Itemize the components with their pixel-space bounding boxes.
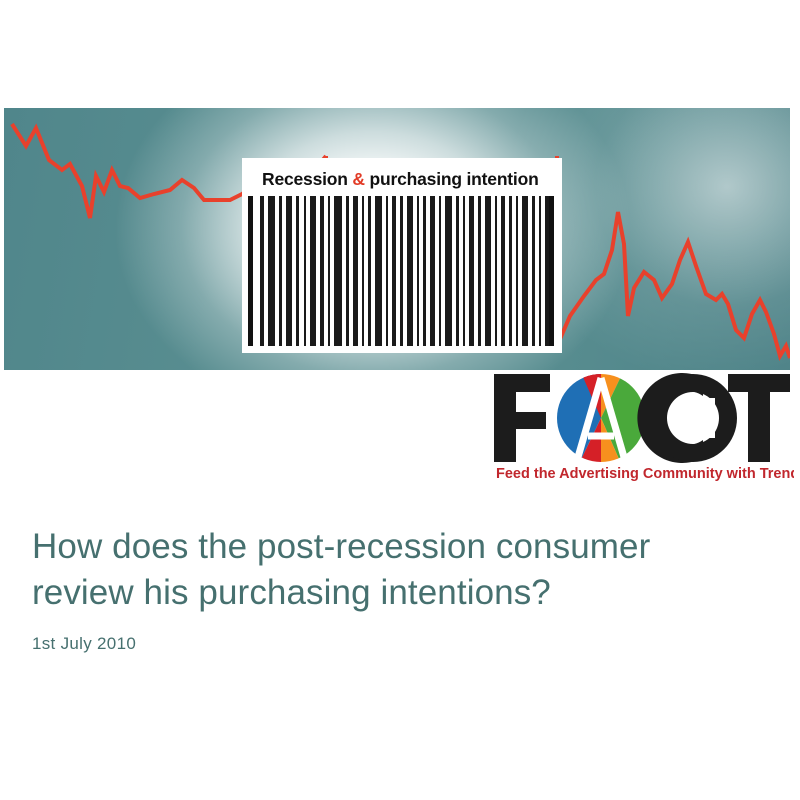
fact-logo: Feed the Advertising Community with Tren…	[488, 370, 794, 482]
header-banner-image: Recession & purchasing intention	[4, 108, 790, 370]
logo-letter-c	[637, 373, 737, 463]
barcode-bars	[246, 196, 558, 346]
title-block: How does the post-recession consumer rev…	[32, 524, 772, 654]
barcode-label-part1: Recession	[262, 169, 352, 189]
logo-letter-f	[494, 374, 550, 462]
barcode-guard-right	[549, 196, 554, 346]
page-title: How does the post-recession consumer rev…	[32, 524, 772, 616]
barcode-label-part2: purchasing intention	[365, 169, 539, 189]
barcode-guard-left	[248, 196, 253, 346]
logo-letter-t	[728, 374, 790, 462]
logo-letter-a-circle	[554, 370, 650, 468]
barcode-label-text: Recession & purchasing intention	[262, 166, 552, 192]
barcode-label-ampersand: &	[352, 169, 364, 189]
trend-line-right	[557, 212, 790, 358]
slide-canvas: Recession & purchasing intention	[0, 0, 800, 800]
barcode-graphic: Recession & purchasing intention	[242, 158, 562, 353]
slide-date: 1st July 2010	[32, 634, 772, 654]
logo-tagline: Feed the Advertising Community with Tren…	[496, 466, 794, 482]
